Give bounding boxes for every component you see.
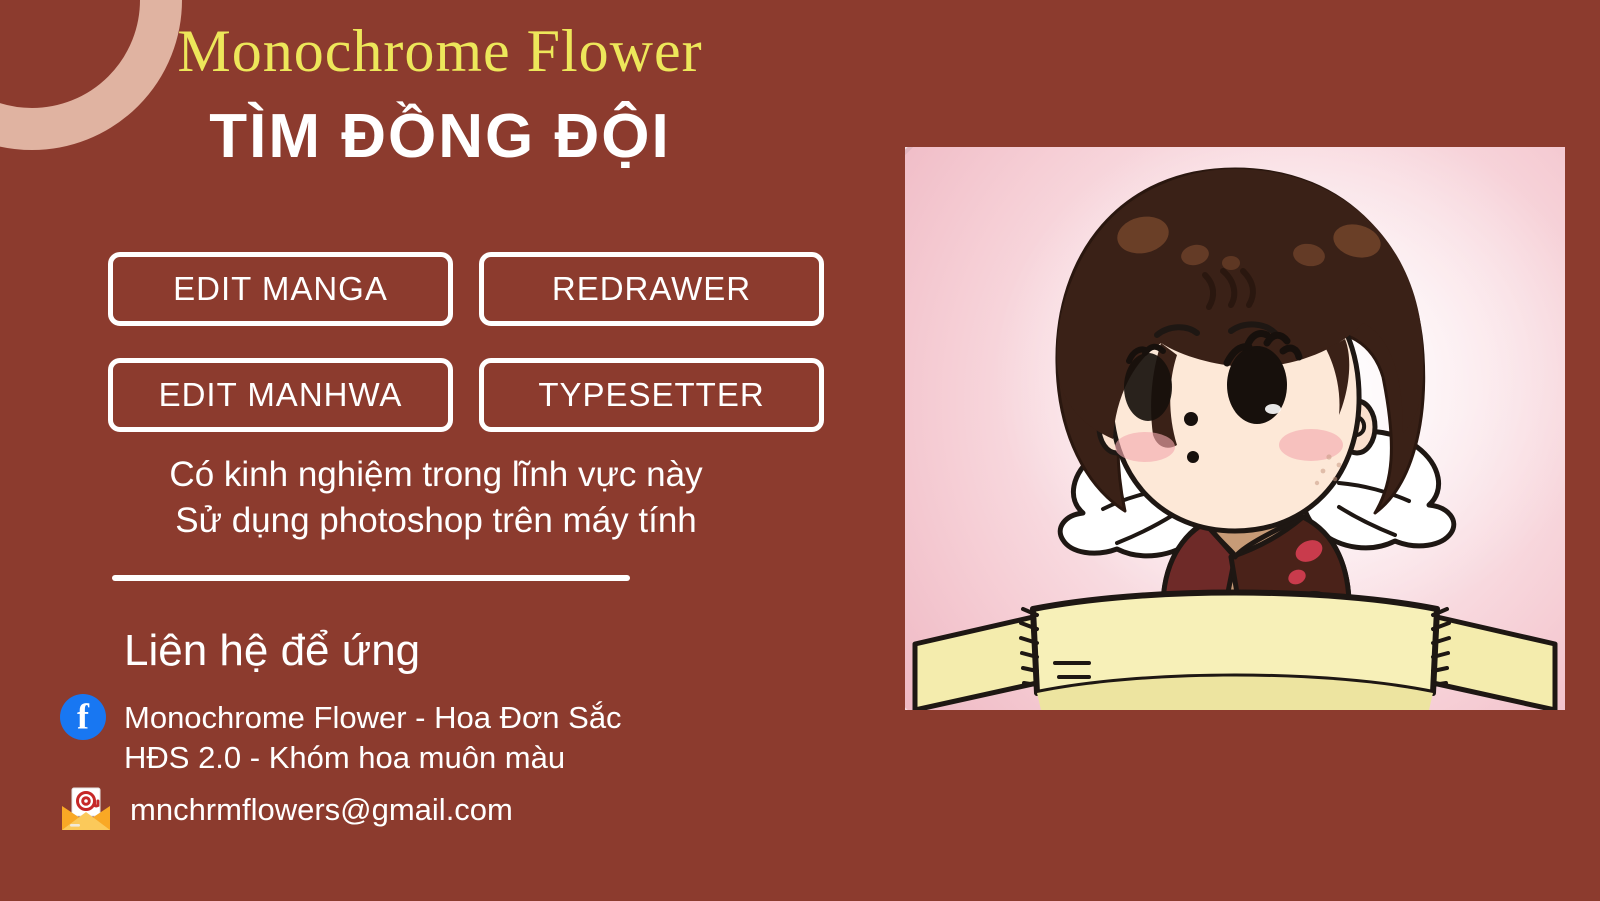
- role-button-edit-manga[interactable]: EDIT MANGA: [108, 252, 453, 326]
- page-title: TÌM ĐỒNG ĐỘI: [0, 104, 880, 169]
- email-envelope-icon: [60, 786, 112, 832]
- contact-heading: Liên hệ để ứng: [124, 626, 420, 676]
- left-content-column: Monochrome Flower TÌM ĐỒNG ĐỘI EDIT MANG…: [0, 0, 880, 901]
- facebook-page-name: Monochrome Flower - Hoa Đơn Sắc: [124, 702, 622, 733]
- role-button-redrawer[interactable]: REDRAWER: [479, 252, 824, 326]
- facebook-icon: [60, 694, 106, 740]
- role-button-edit-manhwa[interactable]: EDIT MANHWA: [108, 358, 453, 432]
- banner-scroll: [915, 593, 1555, 711]
- section-divider: [112, 575, 630, 581]
- email-address: mnchrmflowers@gmail.com: [130, 794, 513, 825]
- requirement-item: Sử dụng photoshop trên máy tính: [0, 498, 872, 544]
- contact-row-facebook-group[interactable]: HĐS 2.0 - Khóm hoa muôn màu: [124, 742, 565, 773]
- role-button-typesetter[interactable]: TYPESETTER: [479, 358, 824, 432]
- requirements-list: Có kinh nghiệm trong lĩnh vực này Sử dụn…: [0, 452, 872, 544]
- contact-row-facebook-page[interactable]: Monochrome Flower - Hoa Đơn Sắc: [60, 694, 622, 740]
- chibi-angel-boy-illustration: [905, 147, 1565, 710]
- role-button-group: EDIT MANGA REDRAWER EDIT MANHWA TYPESETT…: [108, 252, 824, 432]
- contact-row-email[interactable]: mnchrmflowers@gmail.com: [60, 786, 513, 832]
- facebook-group-name: HĐS 2.0 - Khóm hoa muôn màu: [124, 742, 565, 773]
- brand-title: Monochrome Flower: [0, 20, 880, 83]
- illustration-panel: Đến đây nào~: [905, 147, 1565, 710]
- requirement-item: Có kinh nghiệm trong lĩnh vực này: [0, 452, 872, 498]
